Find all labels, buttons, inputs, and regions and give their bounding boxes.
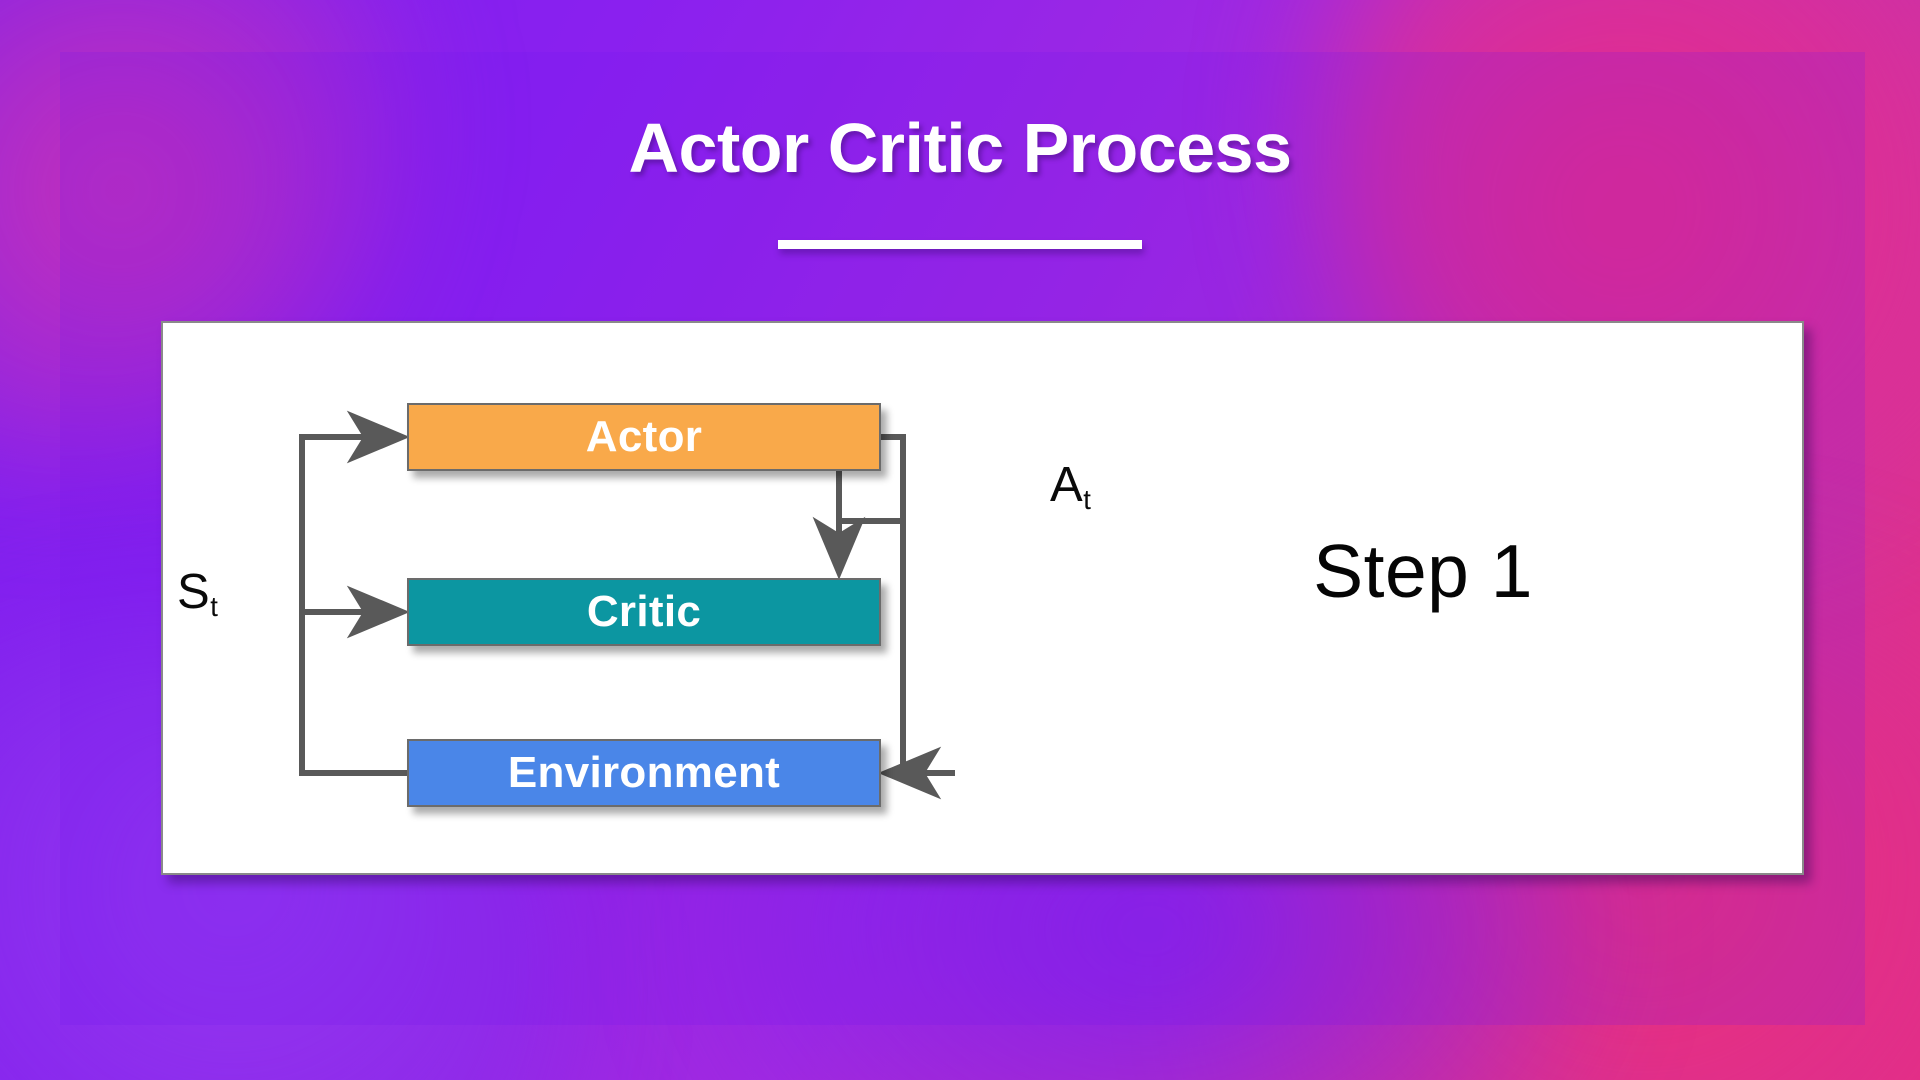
edge-label-state-symbol: S: [177, 565, 210, 619]
node-critic[interactable]: Critic: [407, 578, 881, 646]
edge-label-action-subscript: t: [1083, 484, 1091, 515]
edge-label-state-subscript: t: [210, 591, 218, 622]
node-environment[interactable]: Environment: [407, 739, 881, 807]
connector-state-trunk: [302, 437, 407, 773]
connector-action-rail: [881, 437, 955, 773]
edge-label-action: At: [1050, 461, 1090, 510]
node-environment-label: Environment: [508, 748, 780, 798]
actor-critic-diagram: Actor Critic Environment St At Step 1: [163, 323, 1806, 877]
diagram-card: Actor Critic Environment St At Step 1: [161, 321, 1804, 875]
node-actor[interactable]: Actor: [407, 403, 881, 471]
edge-label-action-symbol: A: [1050, 458, 1083, 512]
step-indicator: Step 1: [1043, 528, 1803, 614]
page-title: Actor Critic Process: [0, 108, 1920, 188]
node-actor-label: Actor: [586, 412, 702, 462]
node-critic-label: Critic: [587, 587, 701, 637]
edge-label-state: St: [177, 568, 217, 617]
slide-root: Actor Critic Process: [0, 0, 1920, 1080]
title-underline-rule: [778, 240, 1142, 249]
